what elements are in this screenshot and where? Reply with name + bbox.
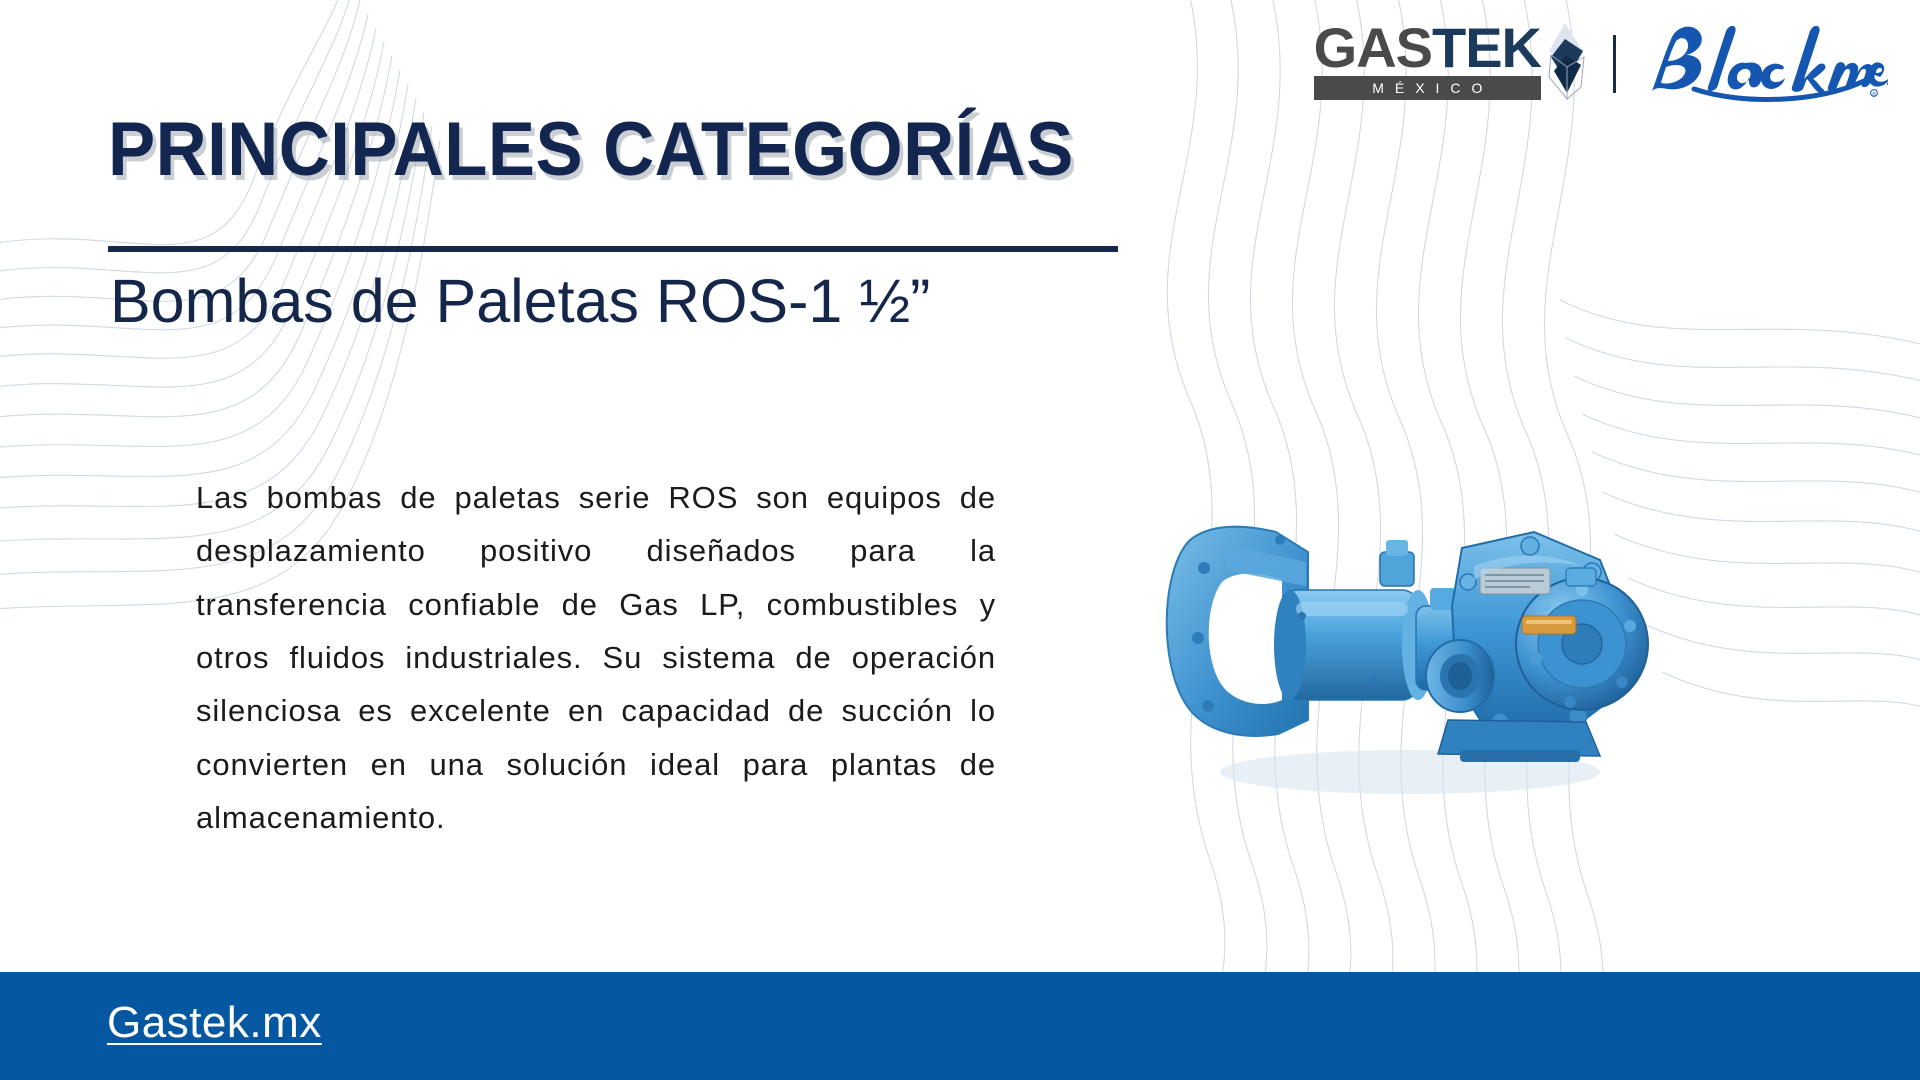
ros-vane-pump-photo — [1130, 420, 1690, 820]
footer-website-link[interactable]: Gastek.mx — [107, 998, 322, 1048]
gastek-word-gas: GAS — [1314, 16, 1432, 79]
gastek-logo[interactable]: GASTEK MÉXICO — [1314, 21, 1587, 107]
gastek-word-tek: TEK — [1432, 16, 1541, 79]
blackmer-registered-mark: ® — [1872, 91, 1876, 98]
gastek-country-label: MÉXICO — [1314, 76, 1541, 100]
header-logo-bar: GASTEK MÉXICO — [1314, 18, 1888, 110]
page-title: PRINCIPALES CATEGORÍAS — [108, 112, 1074, 188]
blackmer-logo[interactable]: ® — [1642, 25, 1888, 103]
page-subtitle: Bombas de Paletas ROS-1 ½” — [110, 268, 931, 335]
gastek-wordmark: GASTEK — [1314, 21, 1541, 74]
footer-bar: Gastek.mx — [0, 972, 1920, 1080]
body-paragraph: Las bombas de paletas serie ROS son equi… — [196, 471, 996, 844]
title-underline-rule — [108, 246, 1118, 252]
logo-divider — [1613, 35, 1616, 93]
gastek-text-block: GASTEK MÉXICO — [1314, 21, 1541, 100]
slide-canvas: GASTEK MÉXICO — [0, 0, 1920, 1080]
gastek-flame-mark — [1541, 21, 1587, 107]
